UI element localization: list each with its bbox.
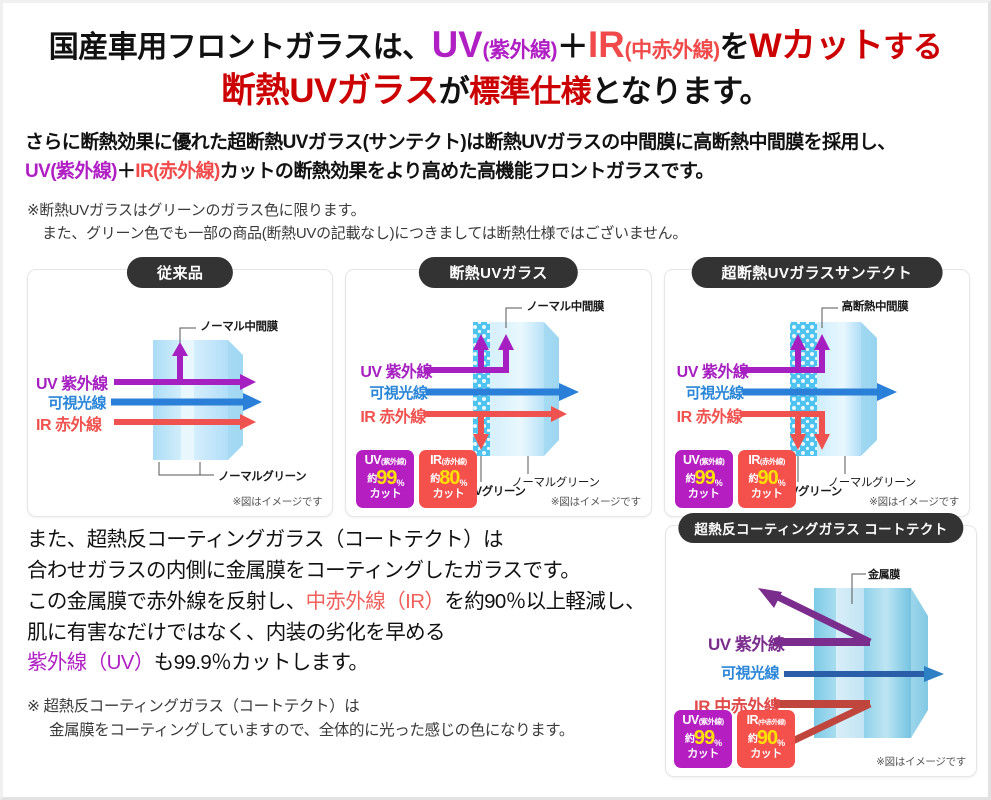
badge-uv-number: 99 (694, 727, 714, 749)
ray-label-ir: IR 赤外線 (36, 411, 101, 435)
image-disclaimer: ※図はイメージです (869, 494, 959, 509)
image-disclaimer: ※図はイメージです (232, 494, 322, 509)
badge-uv-approx: 約 (367, 474, 376, 485)
badge-uv-cut: カット (675, 489, 733, 500)
badge-ir-sub: (赤外線) (760, 457, 785, 466)
badge-uv-percent: % (715, 478, 722, 488)
top-note: ※断熱UVガラスはグリーンのガラス色に限ります。 また、グリーン色でも一部の商品… (3, 187, 988, 246)
desc-line-4: 肌に有害なだけではなく、内装の劣化を早める (27, 618, 661, 649)
page-headline: 国産車用フロントガラスは、UV(紫外線)＋IR(中赤外線)をWカットする 断熱U… (3, 3, 988, 114)
headline-wcut: Wカット (749, 27, 883, 65)
ray-label-uv: UV 紫外線 (360, 358, 432, 382)
badge-ir-kind: IR(赤外線) (419, 454, 477, 467)
ray-label-visible: 可視光線 (48, 392, 106, 413)
badge-uv-kind-text: UV (682, 713, 698, 727)
badge-ir: IR(中赤外線) 約90% カット (737, 710, 795, 768)
subtitle-plus: ＋ (117, 161, 135, 182)
headline-tail: となります。 (591, 74, 770, 109)
subtitle-ir: IR(赤外線) (135, 161, 219, 182)
badge-ir: IR(赤外線) 約90% カット (738, 450, 796, 508)
subtitle-line-1: さらに断熱効果に優れた超断熱UVガラス(サンテクト)は断熱UVガラスの中間膜に高… (25, 128, 970, 157)
badge-ir-approx: 約 (430, 474, 439, 485)
desc-highlight-uv: 紫外線（UV） (27, 651, 154, 674)
badge-uv-percent: % (714, 738, 721, 748)
badge-ir-kind-text: IR (430, 453, 442, 467)
badge-ir: IR(赤外線) 約80% カット (419, 450, 477, 508)
bottom-note-line-1: ※ 超熱反コーティングガラス（コートテクト）は (27, 698, 359, 715)
badge-uv-approx: 約 (686, 474, 695, 485)
badge-ir-number: 90 (757, 727, 777, 749)
ray-label-visible: 可視光線 (686, 382, 744, 403)
subtitle-block: さらに断熱効果に優れた超断熱UVガラス(サンテクト)は断熱UVガラスの中間膜に高… (3, 114, 988, 187)
panel-conventional: 従来品 (27, 269, 333, 517)
badge-uv: UV(紫外線) 約99% カット (674, 710, 732, 768)
badge-ir-number: 90 (758, 467, 778, 489)
callout-normal-green: ノーマルグリーン (218, 468, 306, 484)
badge-ir-approx: 約 (749, 474, 758, 485)
badge-uv-cut: カット (356, 489, 414, 500)
callout-metal-film: 金属膜 (868, 566, 900, 582)
badge-ir-approx: 約 (748, 734, 757, 745)
headline-ga: が (439, 74, 470, 109)
desc-line-3: この金属膜で赤外線を反射し、中赤外線（IR）を約90％以上軽減し、 (27, 587, 661, 618)
badge-uv-kind: UV(紫外線) (674, 714, 732, 727)
badge-group: UV(紫外線) 約99% カット IR(赤外線) 約90% カット (675, 450, 796, 508)
ray-label-ir: IR 赤外線 (677, 403, 742, 427)
badge-ir-kind: IR(中赤外線) (737, 714, 795, 727)
ray-label-ir: IR 赤外線 (360, 403, 425, 427)
headline-standard: 標準仕様 (469, 74, 591, 109)
headline-plus: ＋ (557, 28, 588, 64)
ray-label-visible: 可視光線 (369, 382, 427, 403)
bottom-section: また、超熱反コーティングガラス（コートテクト）は 合わせガラスの内側に金属膜をコ… (3, 517, 988, 743)
badge-group: UV(紫外線) 約99% カット IR(中赤外線) 約90% カット (674, 710, 795, 768)
badge-ir-value: 約90% (738, 468, 796, 488)
badge-ir-sub: (赤外線) (442, 457, 467, 466)
badge-uv: UV(紫外線) 約99% カット (675, 450, 733, 508)
badge-group: UV(紫外線) 約99% カット IR(赤外線) 約80% カット (356, 450, 477, 508)
headline-prefix: 国産車用フロントガラスは、 (49, 31, 432, 64)
badge-uv: UV(紫外線) 約99% カット (356, 450, 414, 508)
panel-coattect: 超熱反コーティングガラス コートテクト (665, 525, 977, 777)
headline-wo: を (720, 31, 750, 64)
badge-uv-kind: UV(紫外線) (356, 454, 414, 467)
infographic-page: 国産車用フロントガラスは、UV(紫外線)＋IR(中赤外線)をWカットする 断熱U… (0, 0, 991, 800)
desc-line-3-a: この金属膜で赤外線を反射し、 (27, 590, 306, 613)
badge-uv-kind-text: UV (683, 453, 699, 467)
top-note-line-2: また、グリーン色でも一部の商品(断熱UVの記載なし)につきましては断熱仕様ではご… (27, 222, 988, 245)
badge-uv-number: 99 (695, 467, 715, 489)
subtitle-uv: UV(紫外線) (25, 161, 117, 182)
headline-product: 断熱UVガラス (221, 72, 439, 110)
top-note-line-1: ※断熱UVガラスはグリーンのガラス色に限ります。 (27, 202, 365, 219)
ray-label-uv: UV 紫外線 (708, 630, 784, 655)
subtitle-line-2: UV(紫外線)＋IR(赤外線)カットの断熱効果をより高めた高機能フロントガラスで… (25, 157, 970, 186)
badge-uv-kind: UV(紫外線) (675, 454, 733, 467)
ray-label-uv: UV 紫外線 (36, 370, 108, 394)
panel-suntect: 超断熱UVガラスサンテクト (664, 269, 970, 517)
headline-line-1: 国産車用フロントガラスは、UV(紫外線)＋IR(中赤外線)をWカットする (3, 21, 988, 69)
panel-uv-insulated: 断熱UVガラス (345, 269, 651, 517)
badge-uv-cut: カット (674, 749, 732, 760)
badge-uv-kind-text: UV (365, 453, 381, 467)
bottom-note-line-2: 金属膜をコーティングしていますので、全体的に光った感じの色になります。 (27, 719, 661, 743)
image-disclaimer: ※図はイメージです (876, 754, 966, 769)
callout-normal-interlayer: ノーマル中間膜 (526, 298, 604, 314)
headline-uv: UV (432, 24, 483, 65)
ray-label-visible: 可視光線 (721, 662, 779, 683)
panel-title-coattect: 超熱反コーティングガラス コートテクト (678, 513, 963, 543)
ray-label-uv: UV 紫外線 (677, 358, 749, 382)
badge-uv-sub: (紫外線) (381, 457, 406, 466)
desc-line-5: 紫外線（UV）も99.9％カットします。 (27, 648, 661, 679)
comparison-panels: 従来品 (3, 245, 988, 517)
badge-ir-number: 80 (439, 467, 459, 489)
badge-ir-cut: カット (737, 749, 795, 760)
badge-ir-value: 約80% (419, 468, 477, 488)
badge-uv-value: 約99% (675, 468, 733, 488)
badge-ir-percent: % (459, 478, 466, 488)
badge-ir-cut: カット (419, 489, 477, 500)
badge-uv-sub: (紫外線) (699, 457, 724, 466)
callout-high-insulation-interlayer: 高断熱中間膜 (842, 298, 909, 314)
headline-uv-sub: (紫外線) (483, 39, 558, 62)
badge-uv-percent: % (396, 478, 403, 488)
desc-line-2: 合わせガラスの内側に金属膜をコーティングしたガラスです。 (27, 556, 661, 587)
callout-normal-interlayer: ノーマル中間膜 (200, 318, 278, 334)
badge-ir-kind: IR(赤外線) (738, 454, 796, 467)
badge-uv-value: 約99% (356, 468, 414, 488)
desc-highlight-ir: 中赤外線（IR） (306, 590, 445, 613)
badge-ir-percent: % (778, 478, 785, 488)
badge-ir-kind-text: IR (748, 453, 760, 467)
badge-ir-kind-text: IR (747, 713, 759, 727)
coattect-description: また、超熱反コーティングガラス（コートテクト）は 合わせガラスの内側に金属膜をコ… (27, 525, 661, 743)
badge-uv-sub: (紫外線) (699, 717, 724, 726)
badge-ir-percent: % (777, 738, 784, 748)
headline-suru: する (883, 31, 942, 64)
subtitle-rest: カットの断熱効果をより高めた高機能フロントガラスです。 (220, 161, 714, 182)
headline-ir-sub: (中赤外線) (625, 39, 720, 62)
badge-ir-value: 約90% (737, 728, 795, 748)
headline-line-2: 断熱UVガラスが標準仕様となります。 (3, 69, 988, 114)
badge-uv-value: 約99% (674, 728, 732, 748)
desc-line-5-b: も99.9％カットします。 (154, 651, 369, 674)
headline-ir: IR (588, 24, 625, 65)
desc-line-1: また、超熱反コーティングガラス（コートテクト）は (27, 525, 661, 556)
bottom-note: ※ 超熱反コーティングガラス（コートテクト）は 金属膜をコーティングしていますの… (27, 695, 661, 743)
desc-line-3-b: を約90％以上軽減し、 (444, 590, 645, 613)
badge-uv-approx: 約 (685, 734, 694, 745)
badge-uv-number: 99 (376, 467, 396, 489)
badge-ir-cut: カット (738, 489, 796, 500)
image-disclaimer: ※図はイメージです (551, 494, 641, 509)
badge-ir-sub: (中赤外線) (758, 719, 785, 726)
